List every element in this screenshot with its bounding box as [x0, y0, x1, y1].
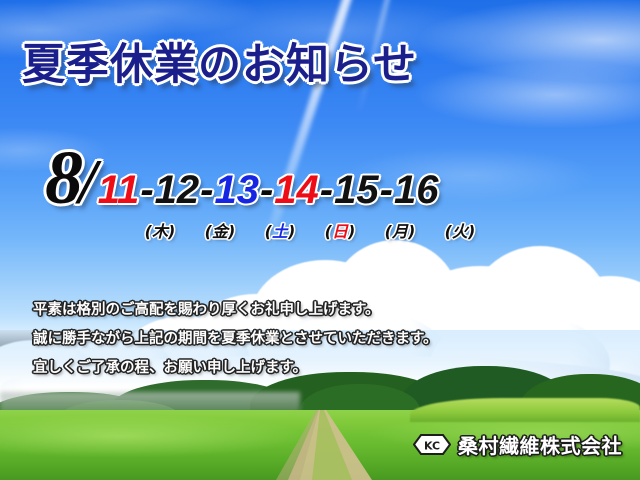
- day-number: 12: [155, 170, 200, 210]
- weekday-label: (土): [250, 218, 310, 242]
- date-separator: -: [259, 170, 274, 210]
- day-number: 13: [214, 170, 259, 210]
- date-slash: /: [79, 150, 97, 214]
- notice-line: 誠に勝手ながら上記の期間を夏季休業とさせていただきます。: [33, 327, 438, 352]
- weekday-label: (火): [430, 218, 490, 242]
- day-number: 11: [98, 170, 140, 210]
- notice-line: 平素は格別のご高配を賜わり厚くお礼申し上げます。: [33, 298, 438, 323]
- weekday-label: (月): [370, 218, 430, 242]
- notice-body-text: 平素は格別のご高配を賜わり厚くお礼申し上げます。 誠に勝手ながら上記の期間を夏季…: [33, 298, 438, 385]
- page-title: 夏季休業のお知らせ: [22, 30, 417, 92]
- date-separator: -: [199, 170, 214, 210]
- day-number: 16: [394, 170, 439, 210]
- kc-logo-text: KC: [424, 440, 440, 453]
- day-number-list: 11 - 12 - 13 - 14 - 15 - 16: [98, 170, 439, 210]
- weekday-label: (木): [130, 218, 190, 242]
- date-separator: -: [319, 170, 334, 210]
- holiday-date-range: 8 / 11 - 12 - 13 - 14 - 15 - 16: [45, 140, 438, 216]
- weekday-label: (金): [190, 218, 250, 242]
- weekday-label-row: (木) (金) (土) (日) (月) (火): [130, 218, 490, 242]
- company-signature: KC 桑村繊維株式会社: [413, 430, 622, 459]
- month-number: 8: [45, 140, 83, 216]
- summer-holiday-notice-poster: 夏季休業のお知らせ 8 / 11 - 12 - 13 - 14 - 15 - 1…: [0, 0, 640, 480]
- date-separator: -: [139, 170, 154, 210]
- weekday-label: (日): [310, 218, 370, 242]
- date-separator: -: [379, 170, 394, 210]
- day-number: 14: [274, 170, 319, 210]
- day-number: 15: [334, 170, 379, 210]
- company-name: 桑村繊維株式会社: [458, 430, 622, 459]
- kc-diamond-logo-icon: KC: [413, 434, 451, 455]
- notice-line: 宜しくご了承の程、お願い申し上げます。: [33, 356, 438, 381]
